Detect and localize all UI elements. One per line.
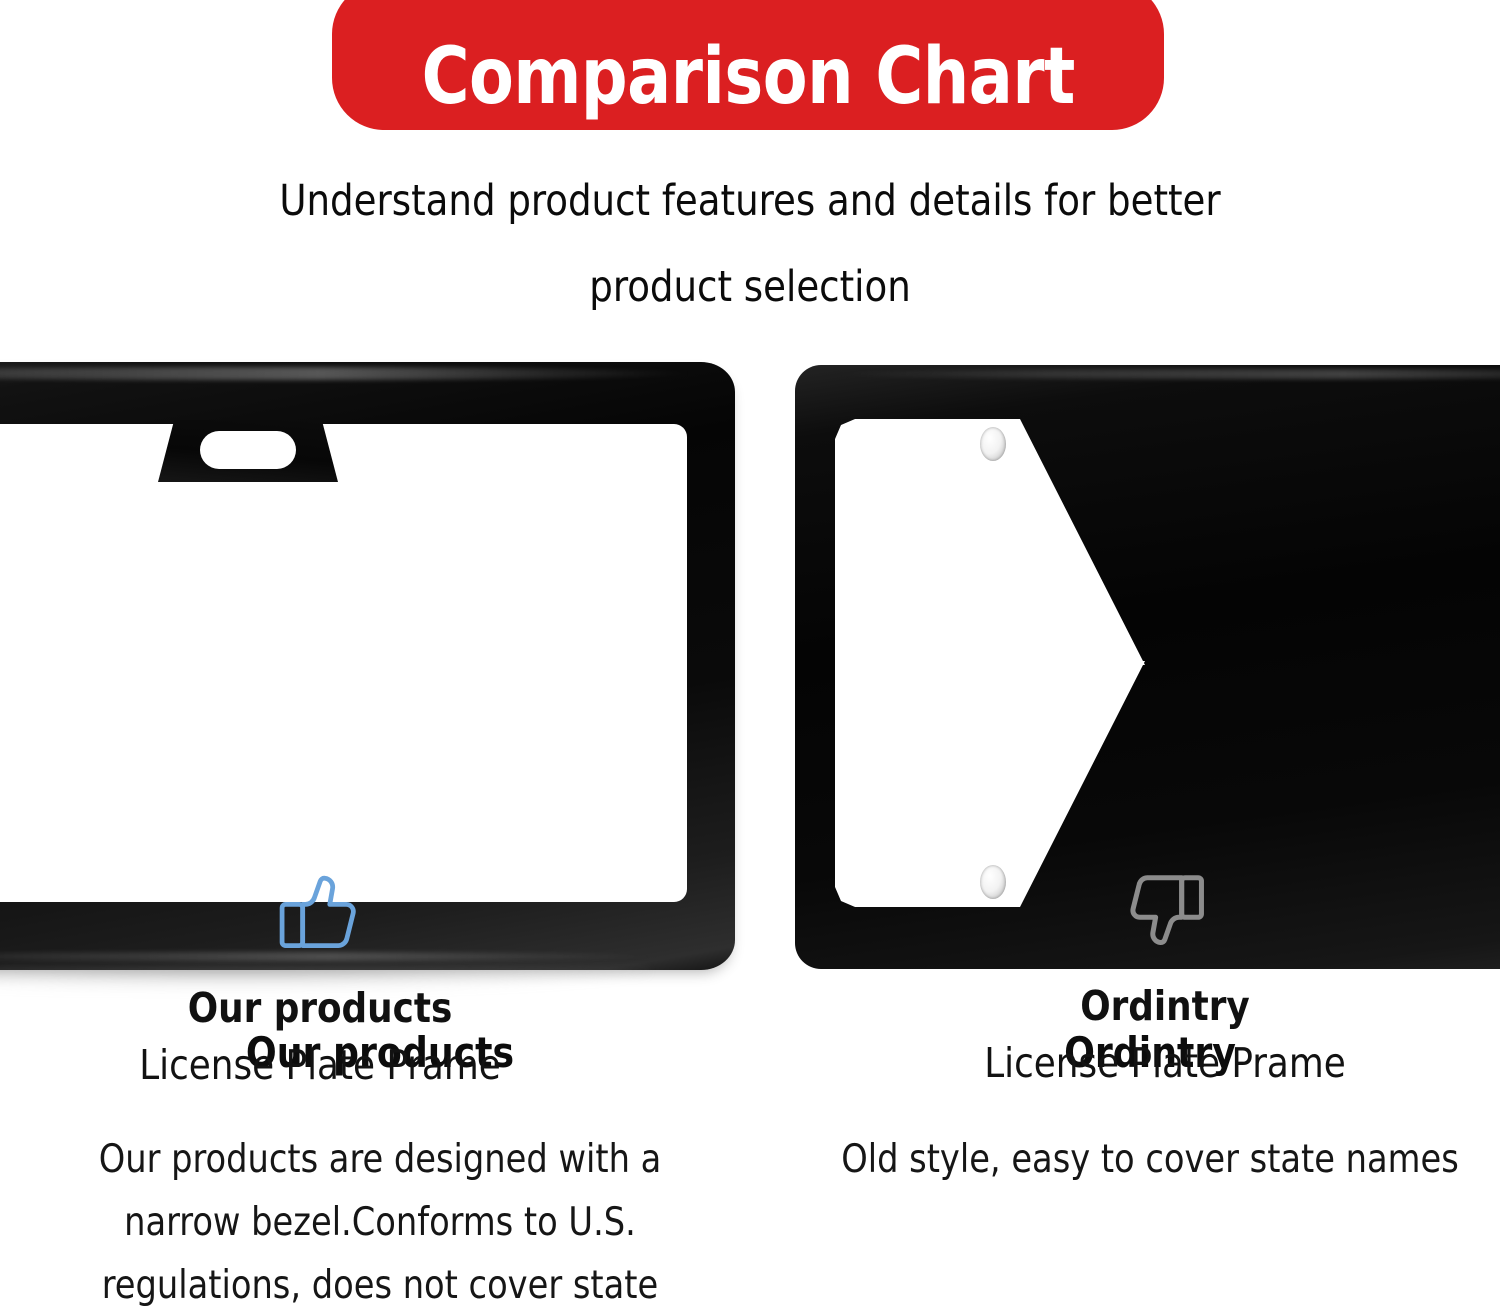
title-banner: Comparison Chart xyxy=(332,0,1164,130)
plate-label-block-right: Ordintry License Plate Prame xyxy=(845,850,1485,1088)
subtitle-line-1: Understand product features and details … xyxy=(30,158,1470,244)
page-title: Comparison Chart xyxy=(421,38,1074,116)
plate-heading-left: Our products xyxy=(10,986,631,1031)
page-subtitle: Understand product features and details … xyxy=(0,158,1500,330)
frame-top-highlight-left xyxy=(0,367,696,380)
frame-top-highlight-right xyxy=(831,369,1500,379)
plate-label-block-left: Our products License Plate Prame xyxy=(0,852,640,1090)
comparison-chart-page: Comparison Chart Understand product feat… xyxy=(0,0,1500,1310)
plate-subheading-right: License Plate Prame xyxy=(855,1038,1476,1088)
plate-heading-right: Ordintry xyxy=(855,984,1476,1029)
frame-screw-hole-top-right xyxy=(980,427,1006,461)
product-images-area: Our products License Plate Prame Ordintr… xyxy=(0,352,1500,992)
plate-subheading-left: License Plate Prame xyxy=(10,1040,631,1090)
plate-window-left xyxy=(0,424,687,902)
subtitle-line-2: product selection xyxy=(30,244,1470,330)
thumbs-up-icon xyxy=(0,852,640,972)
caption-body-left: Our products are designed with a narrow … xyxy=(34,1128,725,1310)
frame-slot-hole-left xyxy=(200,431,296,469)
caption-body-right: Old style, easy to cover state names xyxy=(804,1128,1495,1191)
thumbs-down-icon xyxy=(845,850,1485,970)
